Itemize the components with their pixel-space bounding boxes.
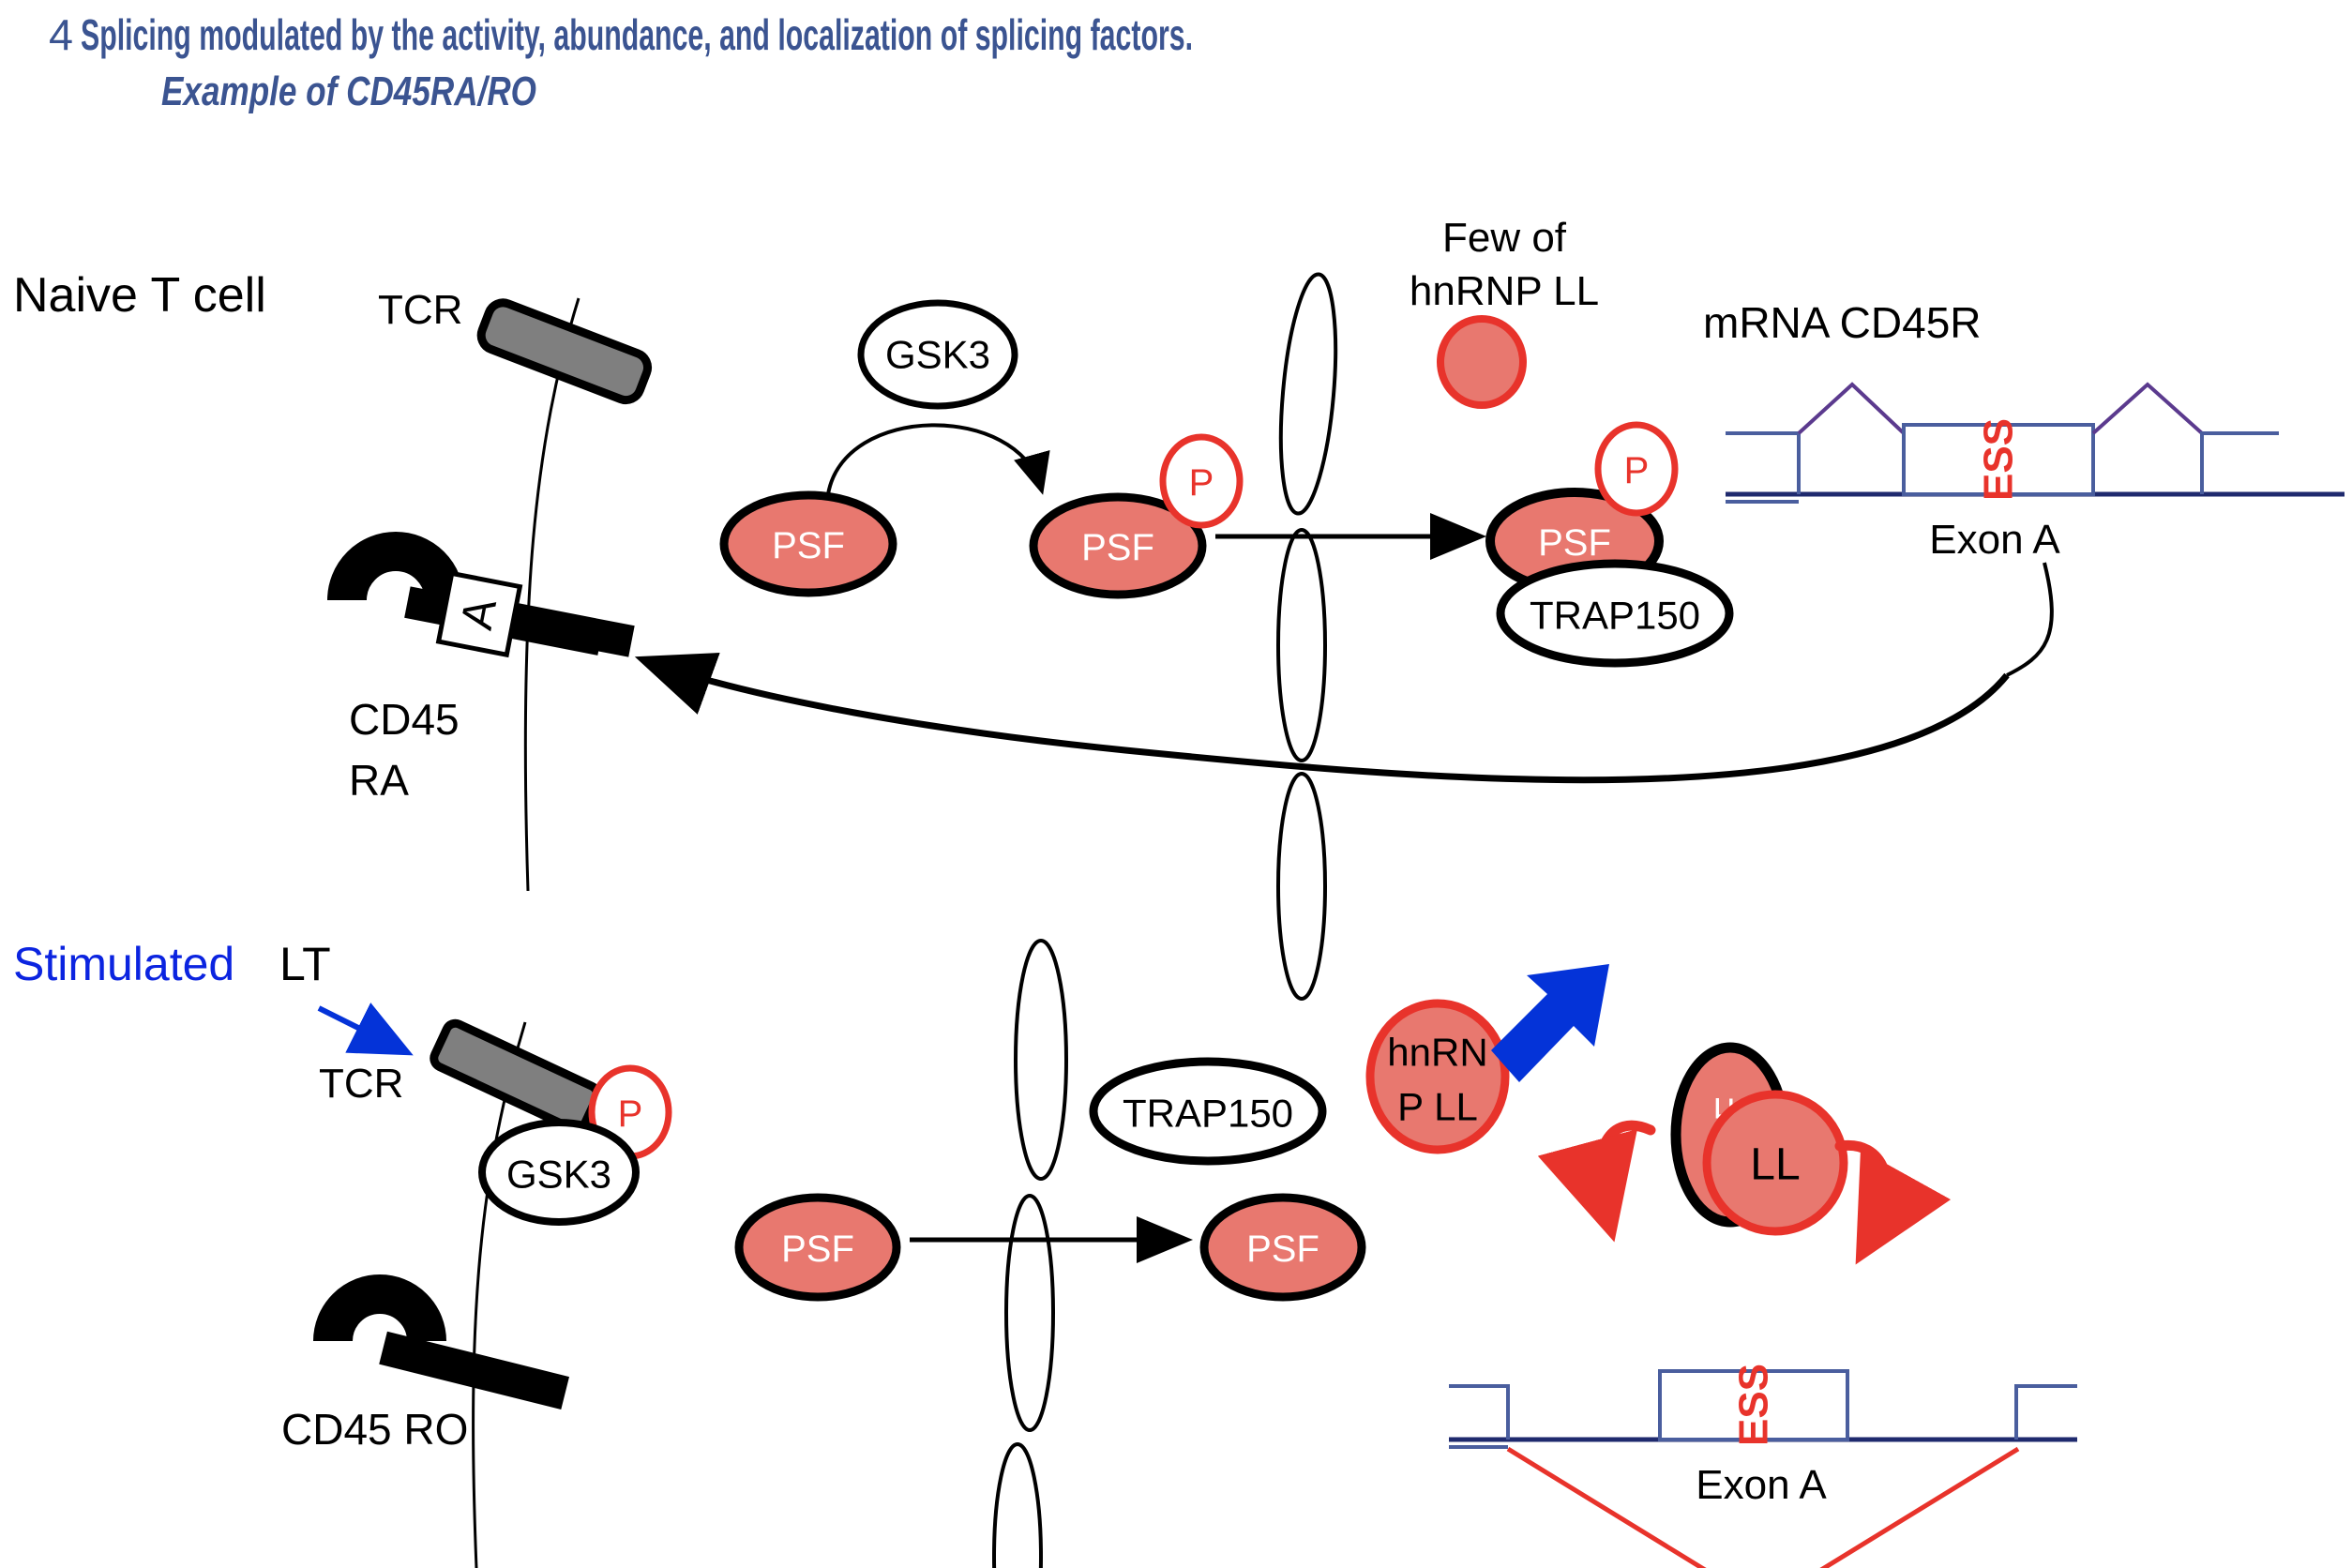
phospho-label-naive-cyto: P xyxy=(1189,462,1214,504)
phospho-label-stimulated: P xyxy=(618,1093,643,1135)
gsk3-label-stimulated: GSK3 xyxy=(506,1153,611,1197)
psf-label-phos-naive: PSF xyxy=(1081,527,1154,568)
panel-label-stimulated: Stimulated xyxy=(13,938,234,990)
hnrnp-label-line1: hnRN xyxy=(1387,1031,1487,1075)
psf-label-cyto-stimulated: PSF xyxy=(781,1229,854,1270)
hnrnp-label-line2: P LL xyxy=(1397,1085,1478,1129)
cd45-ra-label-line2: RA xyxy=(349,756,409,805)
psf-label-nuclear-stimulated: PSF xyxy=(1246,1229,1319,1270)
exon-a-label-naive: Exon A xyxy=(1929,517,2060,563)
gsk3-label-naive: GSK3 xyxy=(885,333,990,377)
tcr-label-naive: TCR xyxy=(378,287,462,333)
slide-number: 4 xyxy=(49,10,73,59)
trap150-label-naive: TRAP150 xyxy=(1530,594,1700,638)
cd45-ro-label: CD45 RO xyxy=(281,1405,468,1454)
tcr-label-stimulated: TCR xyxy=(319,1061,403,1107)
few-hnrnp-note-line2: hnRNP LL xyxy=(1410,268,1599,314)
cd45-ra-label-line1: CD45 xyxy=(349,695,460,744)
panel-label-stimulated-lt: LT xyxy=(279,938,331,990)
ess-label-naive: ESS xyxy=(1976,418,2022,501)
psf-label-nuclear-naive: PSF xyxy=(1538,522,1611,564)
few-hnrnp-note-line1: Few of xyxy=(1442,215,1567,261)
exon-a-label-stimulated: Exon A xyxy=(1696,1462,1827,1508)
trap150-label-stimulated: TRAP150 xyxy=(1123,1092,1293,1136)
hnrnp-ll-particle-naive xyxy=(1440,319,1523,405)
mrna-cd45r-label: mRNA CD45R xyxy=(1703,298,1982,347)
splicing-diagram: 4 Splicing modulated by the activity, ab… xyxy=(0,0,2352,1568)
page-subtitle: Example of CD45RA/RO xyxy=(161,68,536,114)
page-title: Splicing modulated by the activity, abun… xyxy=(81,10,1193,59)
ess-label-stimulated: ESS xyxy=(1731,1364,1777,1446)
ll-bound-label: LL xyxy=(1750,1140,1800,1190)
psf-label-unphos-naive: PSF xyxy=(772,525,845,566)
phospho-label-naive-nuc: P xyxy=(1624,450,1650,491)
slide-canvas: 4 Splicing modulated by the activity, ab… xyxy=(0,0,2352,1568)
panel-label-naive: Naive T cell xyxy=(13,268,266,323)
